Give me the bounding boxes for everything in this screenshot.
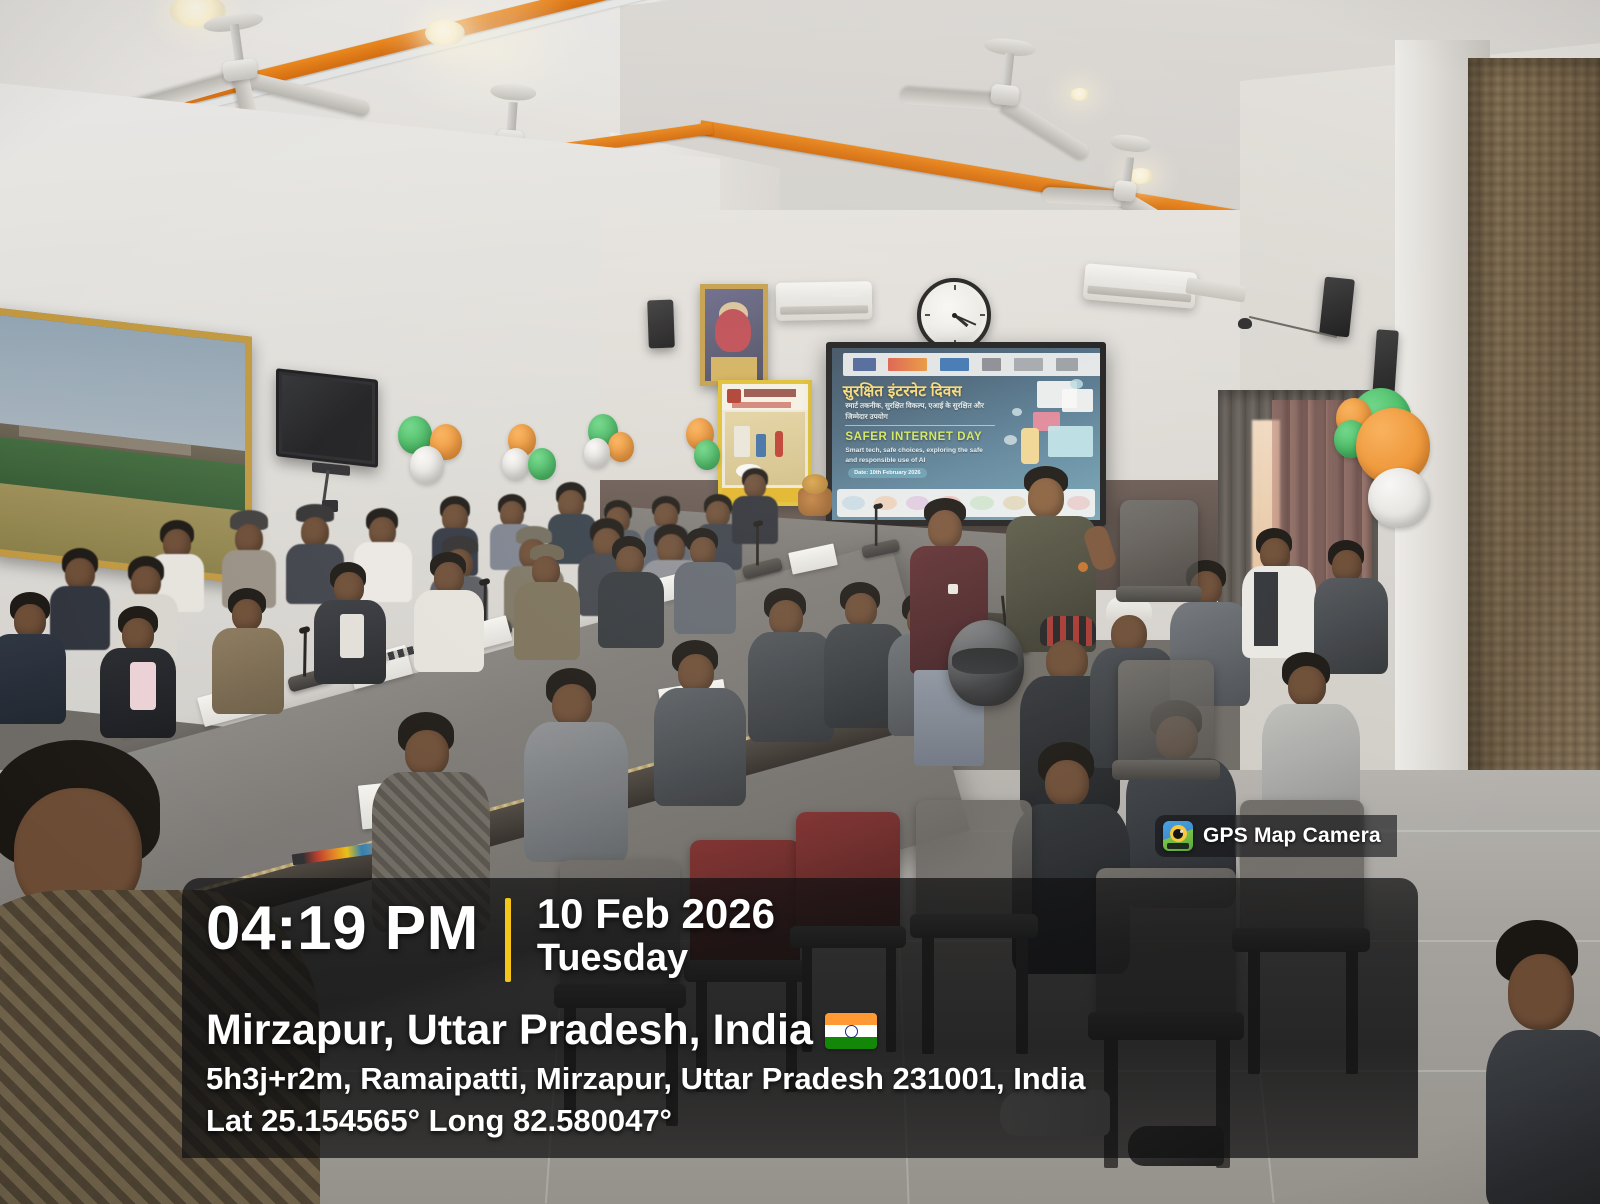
attendee-body	[732, 496, 778, 544]
slide-subtitle-hindi: स्मार्ट तकनीक, सुरक्षित विकल्प, एआई के स…	[845, 401, 1000, 422]
slide-art-chip	[1012, 408, 1023, 416]
attendee-shirt	[414, 590, 484, 672]
slide-icon	[970, 496, 993, 510]
slide-subtitle-english: Smart tech, safe choices, exploring the …	[845, 446, 990, 466]
clock-tick	[925, 314, 930, 316]
chair-seat	[1116, 586, 1202, 602]
portrait-garland	[715, 309, 751, 351]
helmet-visor	[952, 648, 1018, 674]
attendee-head	[1508, 954, 1574, 1030]
mic-neck	[875, 507, 878, 546]
slide-art-chip	[1070, 379, 1084, 389]
slide-date-badge: Date: 10th February 2026	[848, 468, 927, 478]
ac-display	[1147, 281, 1181, 286]
slide-title-english: SAFER INTERNET DAY	[845, 431, 982, 443]
presenter-logo	[1078, 562, 1088, 572]
slide-icon	[842, 496, 865, 510]
attendee-jacket	[598, 572, 664, 648]
attendee-jacket	[748, 632, 834, 742]
presenter-badge	[948, 584, 958, 594]
ac-vent	[1088, 286, 1191, 303]
camera-lens-highlight	[1180, 830, 1183, 833]
attendee-head	[232, 599, 262, 631]
attendee-head	[744, 474, 766, 498]
fan-hub	[990, 84, 1020, 107]
attendee-head	[552, 684, 592, 726]
attendee-head	[405, 730, 449, 776]
slide-title-hindi: सुरक्षित इंटरनेट दिवस	[843, 381, 1009, 401]
chair-seat	[1112, 760, 1220, 780]
attendee-head	[122, 618, 154, 652]
poster-object	[734, 426, 749, 457]
attendee-head	[1288, 666, 1326, 706]
slide-art-card	[1062, 389, 1093, 412]
presenter-head	[1028, 478, 1064, 518]
gps-stamp-content: 04:19 PM 10 Feb 2026 Tuesday Mirzapur, U…	[206, 892, 1400, 1148]
stamp-address: 5h3j+r2m, Ramaipatti, Mirzapur, Uttar Pr…	[206, 1059, 1400, 1099]
attendee-shirt	[130, 662, 156, 710]
slide-logo-bar	[843, 353, 1106, 375]
attendee-vest	[1254, 572, 1278, 646]
balloon-white	[502, 448, 530, 480]
wall-speaker	[647, 300, 675, 349]
slide-logo-6	[1056, 358, 1078, 371]
fan-hub	[1113, 180, 1137, 203]
poster-object	[756, 434, 765, 458]
analog-wall-clock	[917, 278, 991, 352]
slide-logo-4	[982, 358, 1002, 371]
chair-back	[1120, 500, 1198, 590]
projection-screen: सुरक्षित इंटरनेट दिवस स्मार्ट तकनीक, सुर…	[826, 342, 1106, 526]
photo-canvas: सुरक्षित इंटरनेट दिवस स्मार्ट तकनीक, सुर…	[0, 0, 1600, 1204]
balloon-white	[410, 446, 444, 484]
stamp-divider	[505, 898, 511, 982]
clock-tick	[980, 314, 985, 316]
attendee-jacket	[654, 688, 746, 806]
gps-stamp-panel: 04:19 PM 10 Feb 2026 Tuesday Mirzapur, U…	[182, 878, 1418, 1158]
attendee-head	[1045, 760, 1089, 806]
presenter-head	[928, 510, 962, 548]
india-flag-icon	[825, 1013, 877, 1049]
stamp-place-row: Mirzapur, Uttar Pradesh, India	[206, 1006, 1400, 1055]
attendee-jacket	[674, 562, 736, 634]
clock-center-pin	[952, 313, 957, 318]
portrait-base	[711, 357, 757, 381]
fan-blade	[1042, 187, 1125, 207]
attendee-head	[678, 654, 714, 692]
wall-speaker	[1319, 277, 1355, 338]
attendee-jacket	[0, 634, 66, 724]
slide-logo-emblem	[853, 358, 875, 371]
balloon-white-large	[1368, 468, 1430, 528]
attendee-head	[845, 593, 877, 627]
stamp-place: Mirzapur, Uttar Pradesh, India	[206, 1006, 813, 1055]
security-camera-icon	[1238, 318, 1252, 329]
stamp-time: 04:19 PM	[206, 892, 479, 960]
flower-arrangement	[802, 474, 828, 494]
attendee-head	[301, 517, 329, 547]
slide-icon	[1067, 496, 1090, 510]
watermark-label: GPS Map Camera	[1203, 824, 1381, 848]
attendee-shirt	[340, 614, 364, 658]
camera-base-icon	[1167, 843, 1190, 848]
balloon-white	[584, 438, 610, 468]
ceiling-light	[425, 20, 465, 46]
attendee-head	[690, 537, 716, 565]
slide-logo-5	[1014, 358, 1044, 371]
stamp-date: 10 Feb 2026	[537, 892, 775, 936]
slide-logo-nic	[940, 358, 970, 371]
attendee-head	[769, 600, 803, 636]
fan-blade	[900, 88, 1005, 111]
ashoka-chakra-icon	[845, 1025, 858, 1038]
balloon-green	[694, 440, 720, 470]
gps-map-camera-watermark: GPS Map Camera	[1155, 815, 1397, 857]
slide-logo-digital-india	[888, 358, 927, 371]
slide-icon	[1003, 496, 1026, 510]
slide-art-phone	[1021, 428, 1038, 463]
stamp-date-block: 10 Feb 2026 Tuesday	[537, 892, 775, 980]
stamp-weekday: Tuesday	[537, 938, 775, 980]
framed-landscape-painting	[0, 307, 252, 585]
ac-display	[830, 294, 859, 297]
gps-map-camera-app-icon	[1163, 821, 1193, 851]
poster-object	[775, 431, 783, 457]
attendee-jacket	[524, 722, 628, 862]
attendee-jacket	[514, 582, 580, 660]
slide-art-chip	[1004, 435, 1018, 445]
clock-tick	[954, 285, 956, 290]
balloon-orange	[608, 432, 634, 462]
framed-portrait	[700, 284, 768, 386]
slide-divider	[845, 425, 995, 426]
slide-art-card	[1048, 426, 1092, 457]
gps-time-date-row: 04:19 PM 10 Feb 2026 Tuesday	[206, 892, 1400, 996]
air-conditioner-unit	[776, 281, 873, 321]
poster-subtitle-text	[732, 402, 790, 408]
attendee-head	[14, 604, 46, 638]
ac-vent	[780, 305, 868, 315]
mic-neck	[756, 524, 759, 565]
wall-mounted-tv	[276, 368, 378, 468]
tv-screen	[282, 375, 372, 461]
attendee-jacket	[212, 628, 284, 714]
stamp-coordinates: Lat 25.154565° Long 82.580047°	[206, 1101, 1400, 1141]
chair-back	[1118, 660, 1214, 764]
balloon-green	[528, 448, 556, 480]
attendee-jacket	[1486, 1030, 1600, 1204]
poster-title-text	[744, 389, 796, 397]
